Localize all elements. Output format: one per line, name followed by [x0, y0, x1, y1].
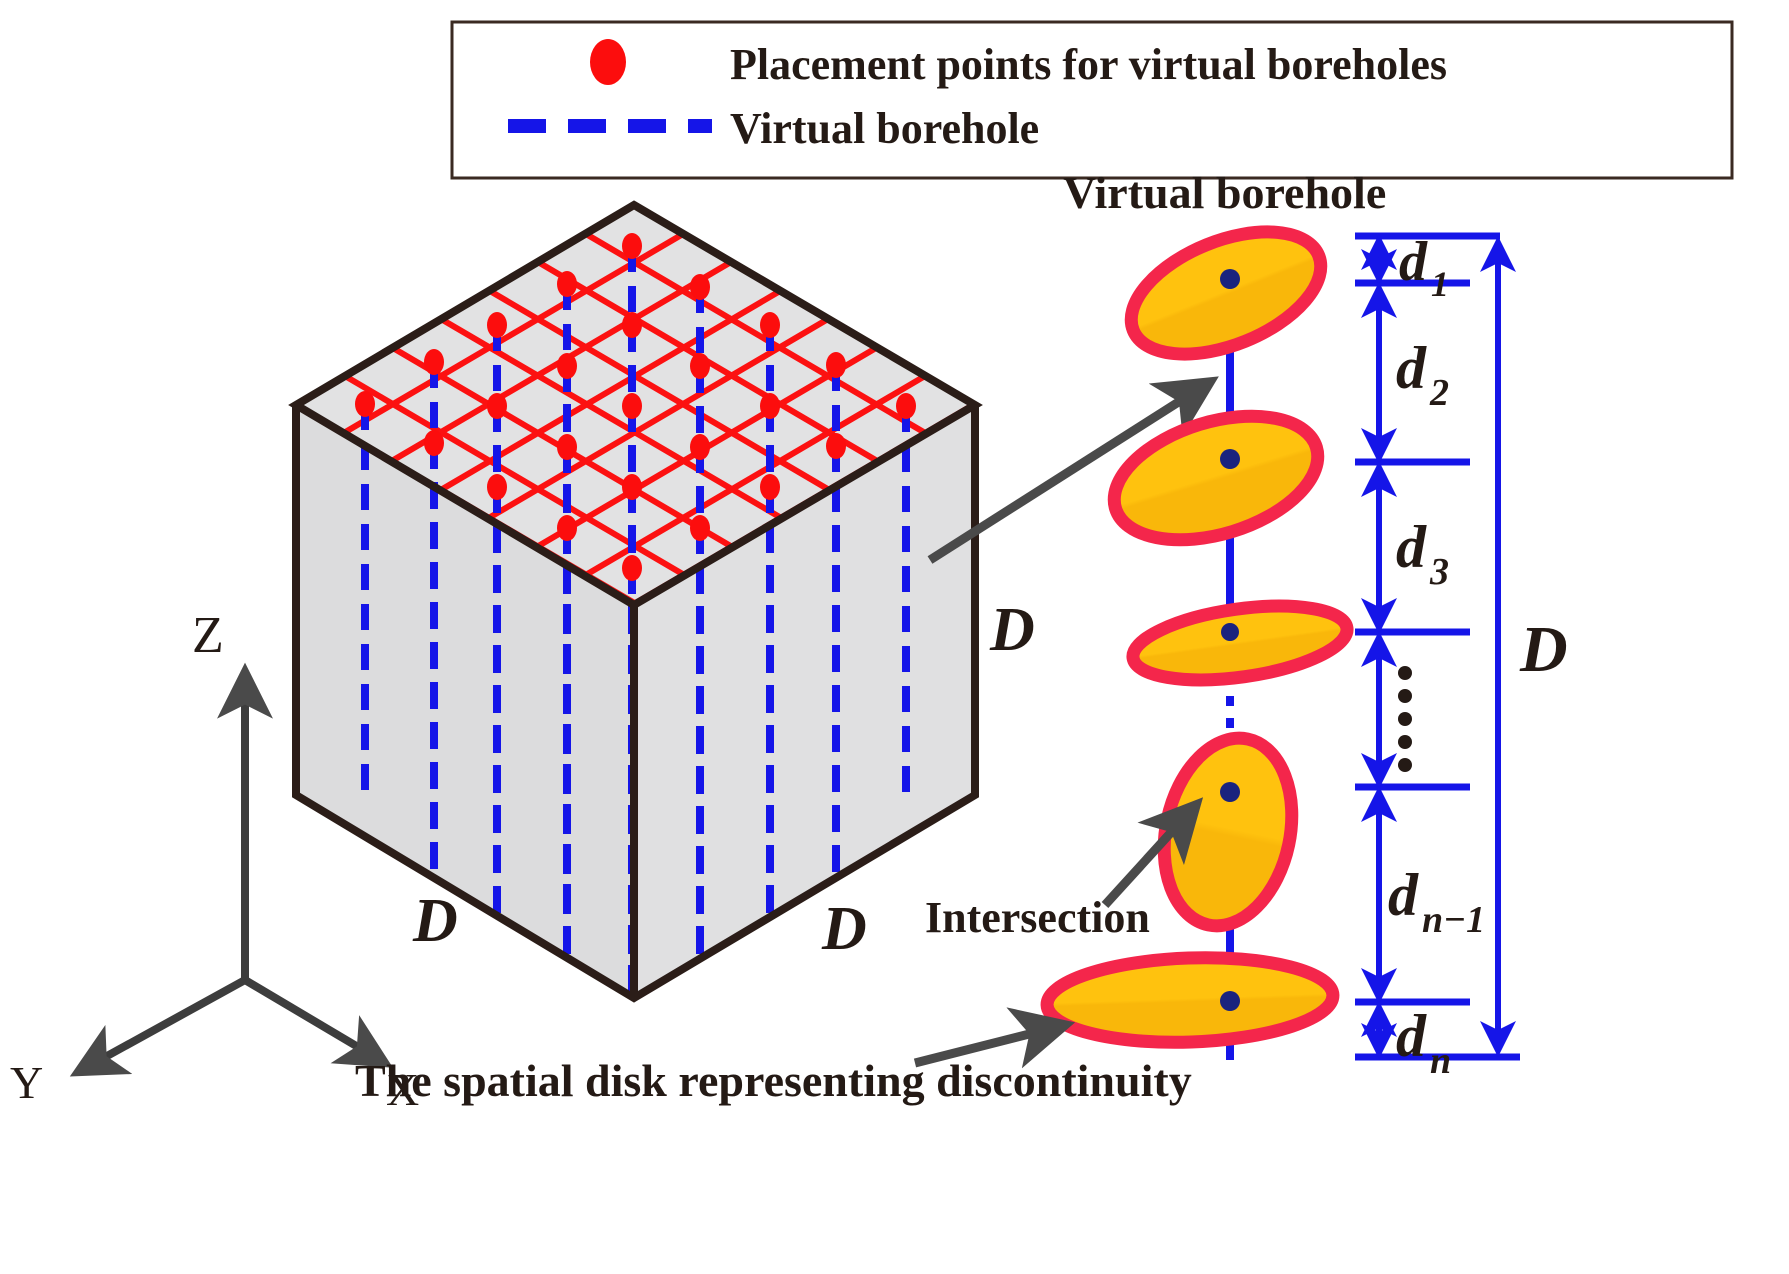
intersection-point-4: [1220, 782, 1240, 802]
label-d2-sub: 2: [1429, 372, 1449, 414]
spatial-disk-3: [1128, 594, 1351, 691]
label-d1-base: d: [1399, 231, 1428, 293]
virtual-borehole-title: Virtual borehole: [1063, 167, 1386, 218]
intersection-point-1: [1220, 269, 1240, 289]
intersection-point-2: [1220, 449, 1240, 469]
label-d2-base: d: [1396, 335, 1427, 401]
y-axis: [78, 980, 245, 1072]
label-d3-base: d: [1396, 514, 1427, 580]
legend: Placement points for virtual boreholes V…: [452, 22, 1732, 178]
intersection-point-5: [1220, 991, 1240, 1011]
label-dn1-base: d: [1388, 862, 1419, 928]
figure-canvas: Placement points for virtual boreholes V…: [0, 0, 1789, 1274]
rock-mass-cube: [296, 205, 975, 1000]
label-d1-sub: 1: [1431, 264, 1449, 304]
diagram-svg: Placement points for virtual boreholes V…: [0, 0, 1789, 1274]
dimension-labels: d 1 d 2 d 3 d n−1 d n D: [1388, 231, 1568, 1082]
axis-label-y: Y: [10, 1057, 43, 1108]
cube-dimension-front-right: D: [821, 895, 867, 963]
axis-label-z: Z: [192, 607, 224, 664]
legend-label-virtual-borehole: Virtual borehole: [730, 104, 1039, 153]
x-axis: [245, 980, 385, 1063]
cube-dimension-front-left: D: [412, 887, 458, 955]
label-dn1-sub: n−1: [1422, 899, 1485, 941]
vertical-ellipsis: [1398, 666, 1412, 772]
spatial-disk-2: [1099, 394, 1333, 563]
legend-label-placement-points: Placement points for virtual boreholes: [730, 40, 1447, 89]
label-dn-sub: n: [1430, 1040, 1451, 1082]
intersection-point-3: [1221, 623, 1239, 641]
label-total-depth: D: [1519, 613, 1568, 686]
figure-caption: The spatial disk representing discontinu…: [355, 1055, 1192, 1106]
label-dn-base: d: [1396, 1003, 1427, 1069]
label-d3-sub: 3: [1429, 551, 1449, 593]
intersection-label: Intersection: [925, 893, 1150, 942]
red-dot-marker: [590, 39, 626, 85]
spatial-disk-5: [1046, 953, 1335, 1047]
cube-dimension-right: D: [989, 596, 1035, 664]
spatial-disk-1: [1114, 207, 1338, 378]
